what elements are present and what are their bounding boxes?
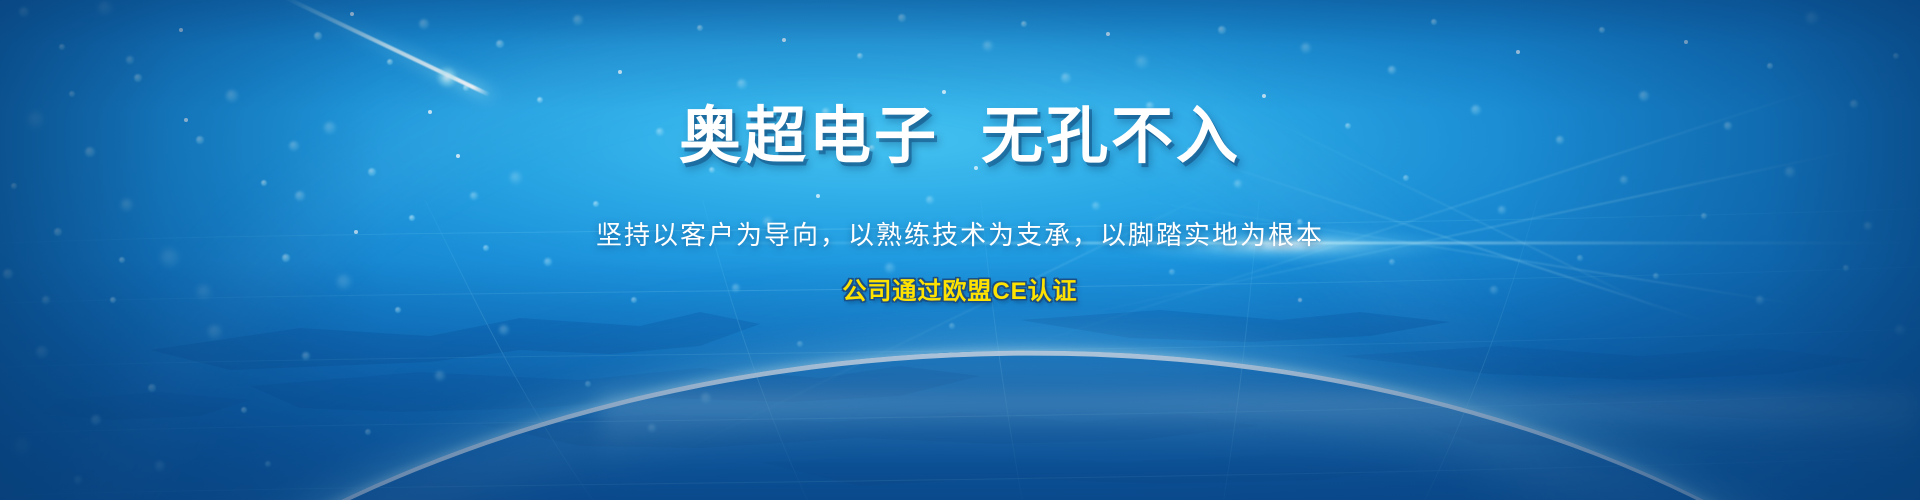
particle-dot [1806, 12, 1818, 24]
particle-dot [1301, 43, 1311, 53]
particle-dot [885, 263, 895, 273]
banner-headline: 奥超电子无孔不入 [0, 106, 1920, 168]
particle-dot [618, 70, 622, 74]
particle-dot [816, 194, 820, 198]
particle-dot [1785, 167, 1795, 177]
particle-dot [942, 90, 946, 94]
particle-dot [1498, 206, 1506, 214]
particle-dot [573, 15, 583, 25]
particle-dot [1218, 26, 1226, 34]
particle-dot [295, 191, 305, 201]
particle-dot [1843, 265, 1849, 271]
particle-dot [265, 461, 271, 467]
particle-dot [1701, 213, 1707, 219]
hero-banner: 奥超电子无孔不入 坚持以客户为导向，以熟练技术为支承，以脚踏实地为根本 公司通过… [0, 0, 1920, 500]
particle-dot [1516, 50, 1520, 54]
particle-dot [161, 249, 179, 267]
particle-dot [949, 323, 955, 329]
particle-dot [241, 407, 247, 413]
particle-dot [797, 341, 803, 347]
particle-dot [11, 183, 17, 189]
particle-dot [1403, 175, 1409, 181]
particle-dot [368, 168, 376, 176]
particle-dot [537, 97, 543, 103]
particle-dot [208, 325, 222, 339]
particle-dot [1577, 255, 1583, 261]
particle-dot [98, 1, 112, 15]
particle-dot [365, 429, 371, 435]
particle-dot [1106, 32, 1110, 36]
particle-dot [36, 346, 48, 358]
particle-dot [74, 476, 82, 484]
particle-dot [14, 438, 30, 454]
particle-dot [419, 19, 429, 29]
particle-dot [1061, 73, 1071, 83]
particle-dot [1639, 91, 1649, 101]
particle-dot [59, 44, 65, 50]
particle-dot [1136, 56, 1148, 68]
particle-dot [496, 40, 504, 48]
particle-dot [3, 269, 13, 279]
particle-dot [409, 215, 415, 221]
particle-dot [737, 79, 747, 89]
particle-dot [19, 7, 29, 17]
particle-dot [314, 32, 322, 40]
particle-dot [387, 59, 393, 65]
particle-dot [126, 56, 134, 64]
particle-dot [282, 254, 290, 262]
comet-head [436, 66, 458, 88]
particle-dot [1092, 202, 1100, 210]
particle-dot [302, 352, 310, 360]
headline-primary: 奥超电子 [679, 102, 939, 171]
particle-dot [261, 180, 267, 186]
particle-dot [1684, 40, 1688, 44]
particle-dot [148, 384, 156, 392]
particle-dot [155, 461, 165, 471]
particle-dot [1431, 19, 1437, 25]
particle-dot [1388, 66, 1396, 74]
particle-dot [134, 74, 142, 82]
particle-dot [926, 196, 934, 204]
particle-dot [435, 371, 445, 381]
particle-dot [1169, 269, 1175, 275]
particle-dot [226, 90, 238, 102]
particle-dot [1021, 21, 1027, 27]
particle-dot [1893, 53, 1899, 59]
particle-dot [585, 381, 591, 387]
particle-dot [395, 307, 401, 313]
particle-dot [697, 25, 703, 31]
particle-dot [179, 28, 183, 32]
particle-dot [510, 172, 522, 184]
particle-dot [857, 53, 863, 59]
particle-dot [91, 415, 101, 425]
particle-dot [1895, 325, 1905, 335]
headline-secondary: 无孔不入 [981, 102, 1241, 171]
particle-dot [1767, 63, 1773, 69]
particle-dot [350, 12, 354, 16]
particle-dot [1599, 27, 1605, 33]
particle-dot [544, 258, 552, 266]
particle-dot [782, 38, 786, 42]
particle-dot [1620, 176, 1628, 184]
particle-dot [119, 257, 125, 263]
particle-dot [69, 91, 75, 97]
particle-dot [593, 201, 599, 207]
particle-dot [898, 14, 906, 22]
particle-dot [1653, 273, 1659, 279]
banner-highlight-badge: 公司通过欧盟CE认证 [0, 280, 1920, 304]
particle-dot [121, 199, 133, 211]
particle-dot [1262, 94, 1266, 98]
banner-subtitle: 坚持以客户为导向，以熟练技术为支承，以脚踏实地为根本 [0, 222, 1920, 248]
particle-dot [470, 192, 478, 200]
particle-dot [1234, 180, 1242, 188]
particle-dot [983, 41, 993, 51]
particle-dot [499, 325, 509, 335]
